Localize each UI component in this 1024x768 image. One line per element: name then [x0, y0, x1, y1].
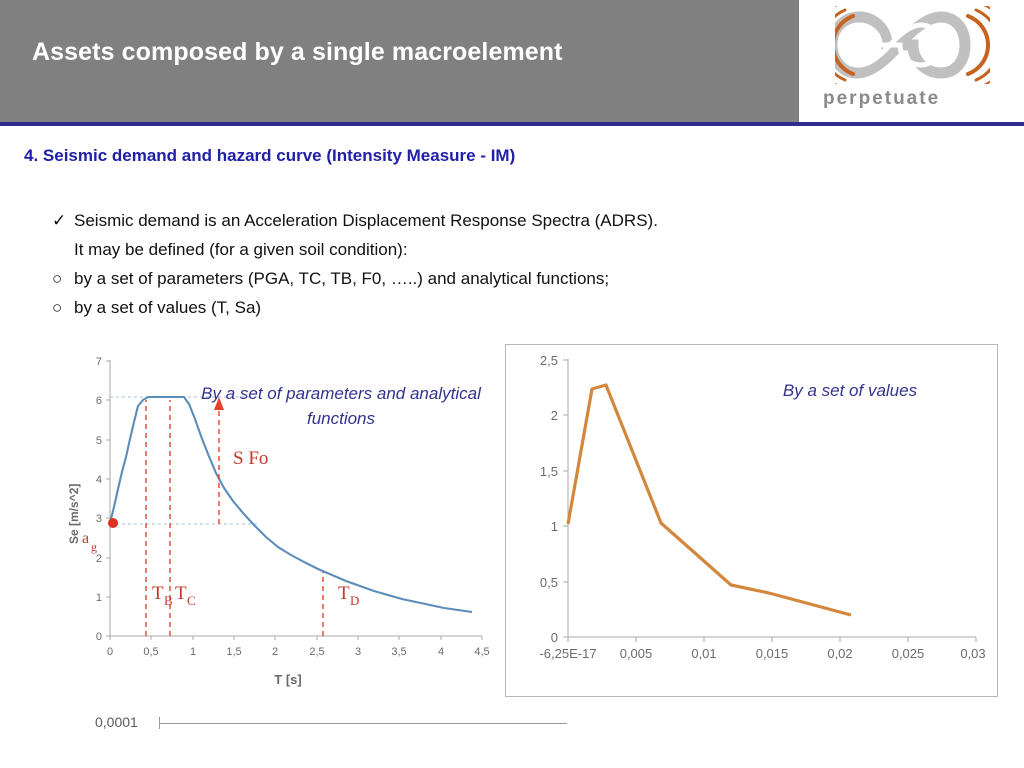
x-tick-label: 0,005	[620, 646, 653, 661]
annotation-s-fo: S Fo	[233, 448, 268, 469]
circle-bullet-icon: ○	[52, 293, 74, 322]
y-tick-label: 2,5	[540, 353, 558, 368]
infinity-logo-icon	[835, 6, 990, 84]
bottom-axis-fragment: 0,0001	[95, 708, 575, 738]
y-tick-label: 4	[96, 474, 102, 486]
x-tick-label: 1	[190, 646, 196, 658]
x-tick-label: 4	[438, 646, 444, 658]
bottom-fragment-label: 0,0001	[95, 714, 138, 730]
ag-marker-point	[108, 518, 118, 528]
x-axis-label: T [s]	[274, 672, 301, 687]
annotation-td: T	[338, 583, 350, 604]
annotation-ag: a	[82, 530, 89, 547]
y-tick-label: 3	[96, 513, 102, 525]
x-tick-label: 3	[355, 646, 361, 658]
logo-container: perpetuate	[799, 0, 1024, 122]
bottom-fragment-tick	[159, 717, 160, 729]
y-tick-label: 5	[96, 435, 102, 447]
bullet-list: ✓Seismic demand is an Acceleration Displ…	[52, 206, 1002, 322]
page-header: Assets composed by a single macroelement…	[0, 0, 1024, 122]
logo-wordmark: perpetuate	[823, 88, 940, 110]
list-item: ✓Seismic demand is an Acceleration Displ…	[52, 206, 1002, 235]
annotation-ag-sub: g	[91, 540, 97, 554]
header-rule	[0, 122, 1024, 126]
x-tick-label: 0,02	[827, 646, 852, 661]
y-tick-label: 1,5	[540, 464, 558, 479]
list-item-text: by a set of parameters (PGA, TC, TB, F0,…	[74, 269, 609, 288]
list-item-text: Seismic demand is an Acceleration Displa…	[74, 211, 658, 230]
caption-left: By a set of parameters and analytical fu…	[176, 381, 506, 431]
y-tick-label: 1	[96, 592, 102, 604]
y-tick-label: 0,5	[540, 575, 558, 590]
y-tick-label: 0	[551, 630, 558, 645]
annotation-td-sub: D	[350, 593, 359, 608]
x-tick-label: 0,5	[143, 646, 158, 658]
x-tick-label: 0,01	[691, 646, 716, 661]
section-title: 4. Seismic demand and hazard curve (Inte…	[24, 146, 515, 166]
list-item: ○by a set of values (T, Sa)	[52, 293, 1002, 322]
annotation-tb-sub: B	[164, 593, 173, 608]
x-tick-label: 2,5	[309, 646, 324, 658]
list-item-text: by a set of values (T, Sa)	[74, 298, 261, 317]
page-title: Assets composed by a single macroelement	[32, 38, 563, 67]
list-item: ○by a set of parameters (PGA, TC, TB, F0…	[52, 264, 1002, 293]
y-axis-label: Se [m/s^2]	[67, 484, 81, 544]
x-tick-label: 2	[272, 646, 278, 658]
x-tick-label: 3,5	[391, 646, 406, 658]
check-icon: ✓	[52, 206, 74, 235]
list-item: It may be defined (for a given soil cond…	[52, 235, 1002, 264]
x-tick-label: 1,5	[226, 646, 241, 658]
y-tick-label: 2	[551, 408, 558, 423]
x-tick-label: -6,25E-17	[539, 646, 596, 661]
annotation-tb: T	[152, 583, 164, 604]
y-tick-label: 6	[96, 395, 102, 407]
annotation-tc-sub: C	[187, 593, 196, 608]
circle-bullet-icon: ○	[52, 264, 74, 293]
list-item-text: It may be defined (for a given soil cond…	[74, 240, 408, 259]
y-tick-label: 2	[96, 553, 102, 565]
x-tick-label: 0,025	[892, 646, 925, 661]
x-tick-label: 0	[107, 646, 113, 658]
x-tick-label: 0,03	[960, 646, 985, 661]
y-tick-label: 0	[96, 631, 102, 643]
y-tick-label: 1	[551, 519, 558, 534]
bottom-fragment-line	[159, 723, 567, 724]
y-tick-label: 7	[96, 356, 102, 368]
x-tick-label: 4,5	[474, 646, 489, 658]
caption-right: By a set of values	[700, 381, 1000, 401]
x-tick-label: 0,015	[756, 646, 789, 661]
annotation-tc: T	[175, 583, 187, 604]
